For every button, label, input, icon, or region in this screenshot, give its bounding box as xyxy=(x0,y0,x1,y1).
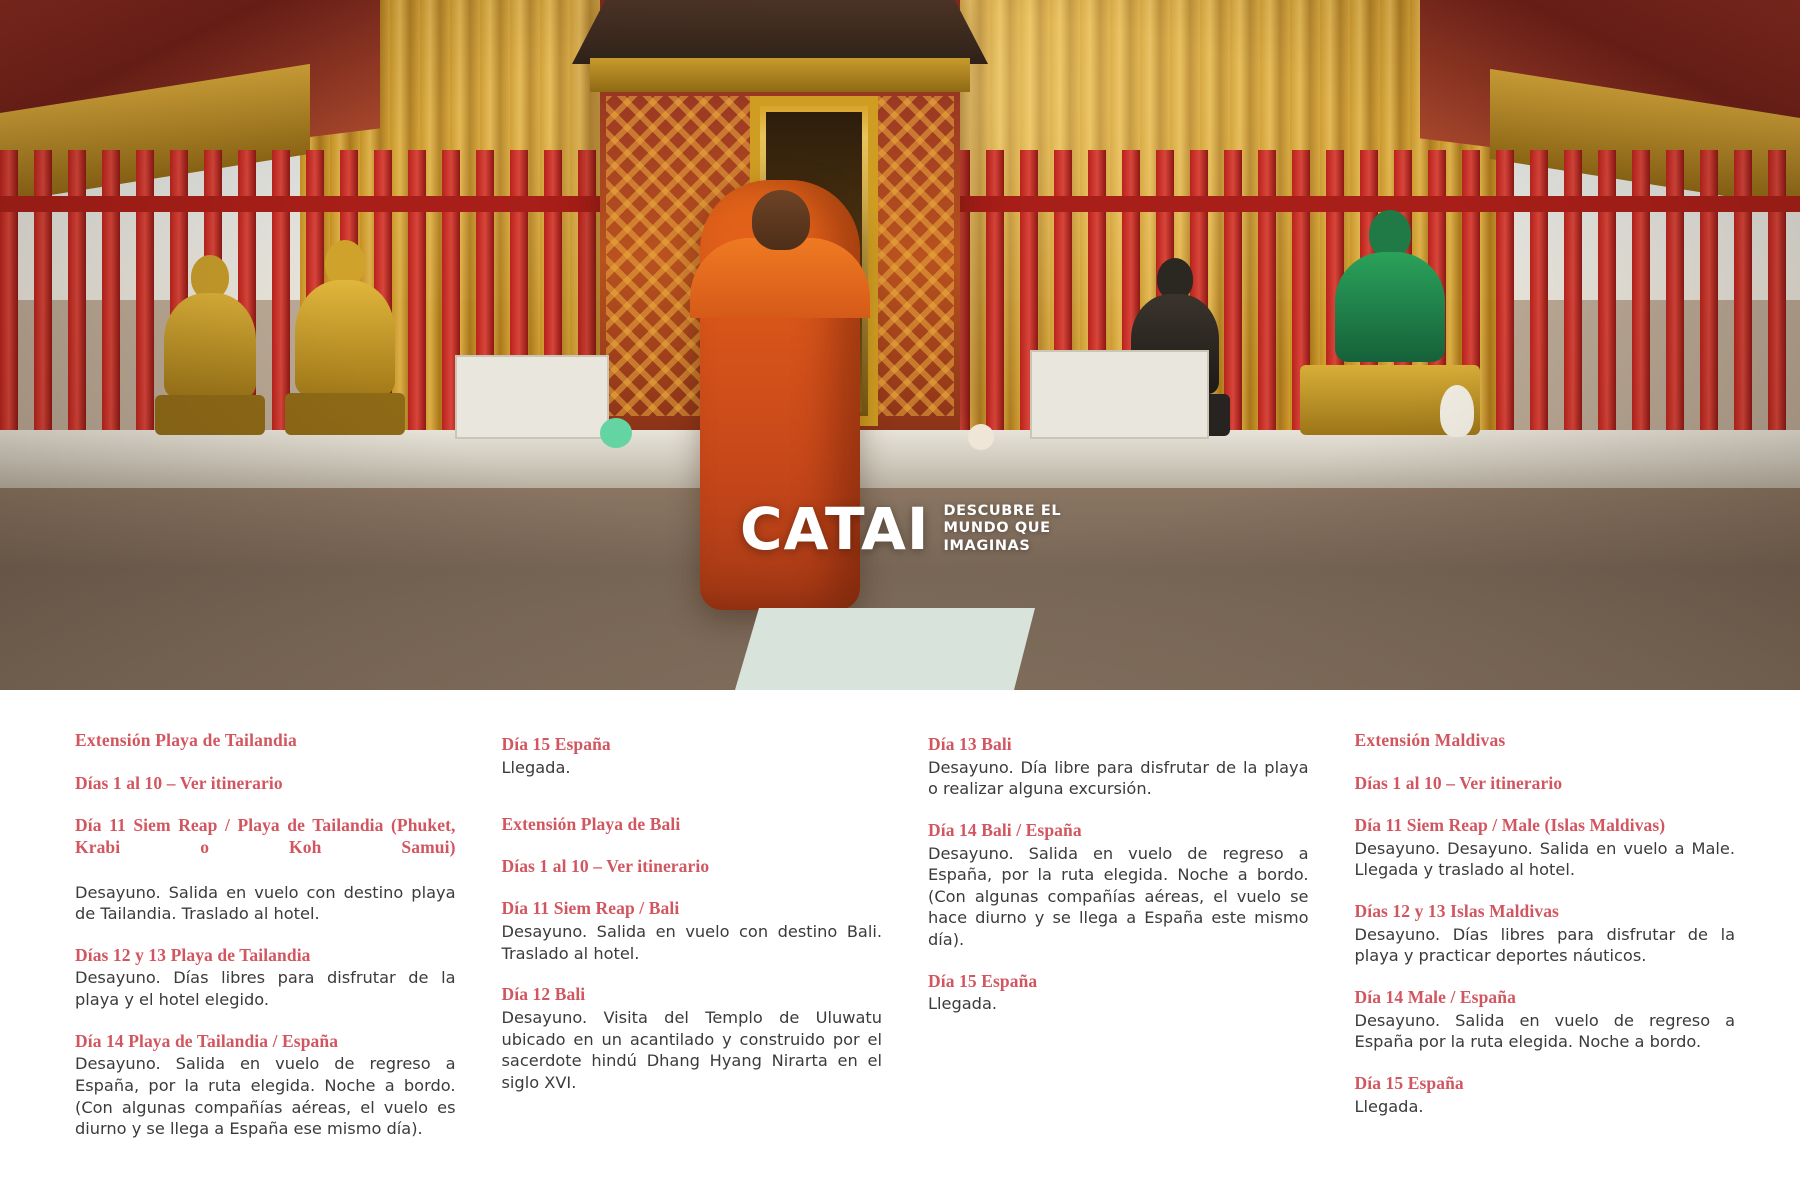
itinerary-columns: Extensión Playa de Tailandia Días 1 al 1… xyxy=(75,730,1735,1140)
block-head: Día 11 Siem Reap / Playa de Tailandia (P… xyxy=(75,815,456,881)
block-dias-12-13-maldivas: Días 12 y 13 Islas Maldivas Desayuno. Dí… xyxy=(1355,901,1736,967)
block-dia-14-tailandia: Día 14 Playa de Tailandia / España Desay… xyxy=(75,1031,456,1140)
section-title-tailandia: Extensión Playa de Tailandia xyxy=(75,730,456,751)
block-head: Día 11 Siem Reap / Male (Islas Maldivas) xyxy=(1355,815,1736,837)
block-head: Día 15 España xyxy=(928,971,1309,993)
block-dia-15-espana-maldivas: Día 15 España Llegada. xyxy=(1355,1073,1736,1117)
block-body: Desayuno. Días libres para disfrutar de … xyxy=(75,967,456,1010)
column-extension-maldivas: Extensión Maldivas Días 1 al 10 – Ver it… xyxy=(1355,730,1736,1140)
block-dia-14-bali: Día 14 Bali / España Desayuno. Salida en… xyxy=(928,820,1309,951)
block-body: Desayuno. Salida en vuelo con destino Ba… xyxy=(502,921,883,964)
block-body: Desayuno. Salida en vuelo de regreso a E… xyxy=(75,1053,456,1139)
block-dia-11-tailandia: Día 11 Siem Reap / Playa de Tailandia (P… xyxy=(75,815,456,925)
block-body: Desayuno. Salida en vuelo de regreso a E… xyxy=(1355,1010,1736,1053)
block-dia-13-bali: Día 13 Bali Desayuno. Día libre para dis… xyxy=(928,734,1309,800)
block-head: Días 1 al 10 – Ver itinerario xyxy=(1355,773,1736,795)
block-head: Días 1 al 10 – Ver itinerario xyxy=(502,856,883,878)
itinerary-content: Extensión Playa de Tailandia Días 1 al 1… xyxy=(0,690,1800,1200)
block-head: Día 14 Bali / España xyxy=(928,820,1309,842)
block-head: Días 12 y 13 Playa de Tailandia xyxy=(75,945,456,967)
block-dias-1-10-tailandia: Días 1 al 10 – Ver itinerario xyxy=(75,773,456,795)
block-body: Llegada. xyxy=(928,993,1309,1015)
block-body: Llegada. xyxy=(502,757,883,779)
block-head: Día 14 Playa de Tailandia / España xyxy=(75,1031,456,1053)
catai-logo: CATAI DESCUBRE EL MUNDO QUE IMAGINAS xyxy=(740,500,1061,558)
catai-tagline: DESCUBRE EL MUNDO QUE IMAGINAS xyxy=(943,503,1061,554)
column-bali-continuacion: Día 13 Bali Desayuno. Día libre para dis… xyxy=(928,730,1309,1140)
block-body: Desayuno. Desayuno. Salida en vuelo a Ma… xyxy=(1355,838,1736,881)
block-body: Desayuno. Salida en vuelo de regreso a E… xyxy=(928,843,1309,951)
block-dia-15-espana-tailandia: Día 15 España Llegada. xyxy=(502,734,883,778)
block-body: Desayuno. Día libre para disfrutar de la… xyxy=(928,757,1309,800)
photo-vignette xyxy=(0,0,1800,690)
block-dias-1-10-bali: Días 1 al 10 – Ver itinerario xyxy=(502,856,883,878)
block-dia-12-bali: Día 12 Bali Desayuno. Visita del Templo … xyxy=(502,984,883,1093)
block-head: Día 15 España xyxy=(1355,1073,1736,1095)
catai-tagline-line-3: IMAGINAS xyxy=(943,538,1061,555)
block-head: Día 13 Bali xyxy=(928,734,1309,756)
catai-tagline-line-2: MUNDO QUE xyxy=(943,520,1061,537)
block-head: Día 11 Siem Reap / Bali xyxy=(502,898,883,920)
mint-trapezoid-shape xyxy=(735,608,1035,690)
block-dia-14-maldivas: Día 14 Male / España Desayuno. Salida en… xyxy=(1355,987,1736,1053)
catai-tagline-line-1: DESCUBRE EL xyxy=(943,503,1061,520)
block-head: Días 1 al 10 – Ver itinerario xyxy=(75,773,456,795)
catai-wordmark: CATAI xyxy=(740,500,929,558)
section-title-bali: Extensión Playa de Bali xyxy=(502,814,883,836)
block-dias-1-10-maldivas: Días 1 al 10 – Ver itinerario xyxy=(1355,773,1736,795)
block-dia-11-bali: Día 11 Siem Reap / Bali Desayuno. Salida… xyxy=(502,898,883,964)
block-head: Día 12 Bali xyxy=(502,984,883,1006)
block-body: Llegada. xyxy=(1355,1096,1736,1118)
section-title-maldivas: Extensión Maldivas xyxy=(1355,730,1736,751)
hero-photo xyxy=(0,0,1800,690)
block-body: Desayuno. Visita del Templo de Uluwatu u… xyxy=(502,1007,883,1093)
block-head: Días 12 y 13 Islas Maldivas xyxy=(1355,901,1736,923)
block-head: Día 15 España xyxy=(502,734,883,756)
block-dia-15-espana-bali: Día 15 España Llegada. xyxy=(928,971,1309,1015)
block-title-extension-bali: Extensión Playa de Bali xyxy=(502,814,883,836)
column-extension-playa-tailandia: Extensión Playa de Tailandia Días 1 al 1… xyxy=(75,730,456,1140)
column-extension-playa-bali: Día 15 España Llegada. Extensión Playa d… xyxy=(502,730,883,1140)
block-dias-12-13-tailandia: Días 12 y 13 Playa de Tailandia Desayuno… xyxy=(75,945,456,1011)
block-body: Desayuno. Salida en vuelo con destino pl… xyxy=(75,882,456,925)
block-dia-11-maldivas: Día 11 Siem Reap / Male (Islas Maldivas)… xyxy=(1355,815,1736,881)
block-head: Día 14 Male / España xyxy=(1355,987,1736,1009)
block-body: Desayuno. Días libres para disfrutar de … xyxy=(1355,924,1736,967)
